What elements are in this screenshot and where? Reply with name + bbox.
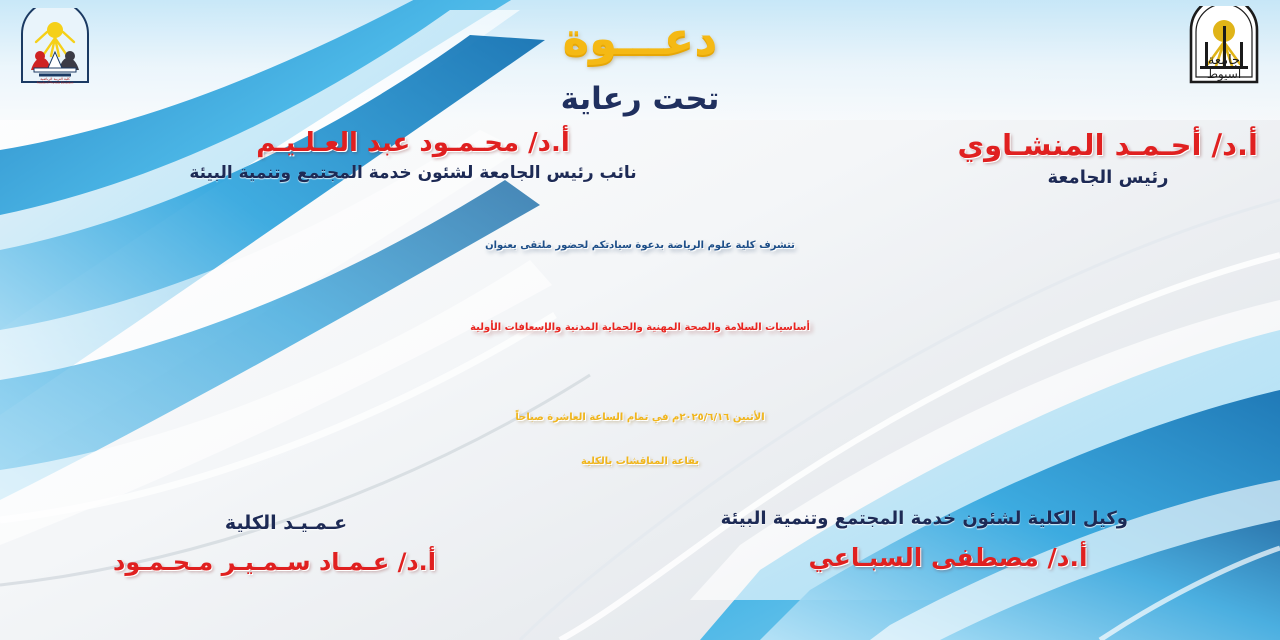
logo-word-bottom: أسيوط: [1207, 66, 1241, 82]
signature-dean-role: عـمـيـد الكلية: [136, 512, 436, 534]
signature-vice-dean-name: أ.د/ مصطفى السبـاعي: [768, 543, 1128, 572]
page-title: دعـــوة: [0, 14, 1280, 64]
event-datetime: الأثنين ٢٠٢٥/٦/١٦م في تمام الساعة العاشر…: [0, 412, 1280, 423]
event-title-line-1: أساسيات السلامة والصحة المهنية والحماية …: [0, 322, 1280, 333]
patron-secondary: أ.د/ محـمـود عبد العـلـيـم نائب رئيس الج…: [178, 128, 648, 183]
signature-vice-dean-role: وكيل الكلية لشئون خدمة المجتمع وتنمية ال…: [768, 508, 1128, 529]
patron-primary-role: رئيس الجامعة: [958, 167, 1258, 188]
signature-vice-dean: وكيل الكلية لشئون خدمة المجتمع وتنمية ال…: [768, 508, 1128, 572]
signature-dean-name: أ.د/ عـمـاد سـمـيـر مـحـمـود: [136, 548, 436, 576]
patron-primary: أ.د/ أحـمـد المنشـاوي رئيس الجامعة: [958, 128, 1258, 188]
patron-primary-name: أ.د/ أحـمـد المنشـاوي: [958, 128, 1258, 162]
invitation-poster: كلية التربية الرياضية Faculty of Physica…: [0, 0, 1280, 640]
patron-secondary-name: أ.د/ محـمـود عبد العـلـيـم: [178, 128, 648, 158]
patronage-label: تحت رعاية: [0, 82, 1280, 117]
event-venue: بقاعة المناقشات بالكلية: [0, 456, 1280, 467]
event-title: أساسيات السلامة والصحة المهنية والحماية …: [0, 322, 1280, 333]
invitation-body-line: تتشرف كلية علوم الرياضة بدعوة سيادتكم لح…: [0, 240, 1280, 251]
patron-secondary-role: نائب رئيس الجامعة لشئون خدمة المجتمع وتن…: [178, 163, 648, 183]
signature-dean: عـمـيـد الكلية أ.د/ عـمـاد سـمـيـر مـحـم…: [136, 512, 436, 576]
